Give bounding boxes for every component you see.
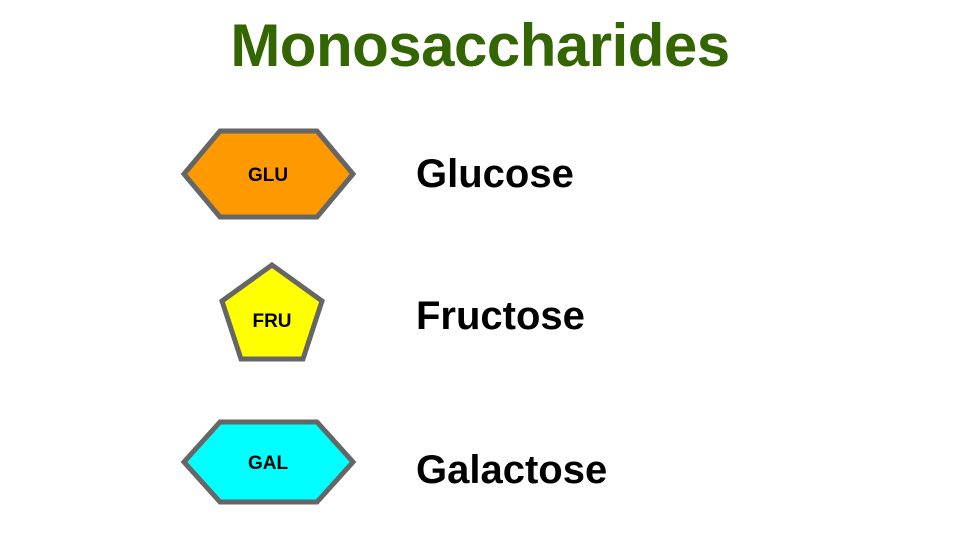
sugar-row-fructose: FRU Fructose <box>0 258 960 354</box>
sugar-row-galactose: GAL Galactose <box>0 412 960 508</box>
fructose-name-label: Fructose <box>416 268 585 364</box>
hexagon-icon: GLU <box>180 126 370 222</box>
fructose-shape: FRU <box>180 258 370 354</box>
galactose-shape: GAL <box>180 412 370 508</box>
hexagon-icon: GAL <box>180 412 370 508</box>
galactose-name-label: Galactose <box>416 422 607 518</box>
glucose-name-label: Glucose <box>416 126 574 222</box>
galactose-code-label: GAL <box>248 453 289 474</box>
sugar-row-glucose: GLU Glucose <box>0 126 960 222</box>
page-title: Monosaccharides <box>0 14 960 77</box>
slide-canvas: Monosaccharides GLU Glucose FRU Fructose… <box>0 0 960 540</box>
fructose-code-label: FRU <box>252 311 291 332</box>
glucose-code-label: GLU <box>248 165 288 186</box>
glucose-shape: GLU <box>180 126 370 222</box>
pentagon-icon: FRU <box>180 258 370 364</box>
